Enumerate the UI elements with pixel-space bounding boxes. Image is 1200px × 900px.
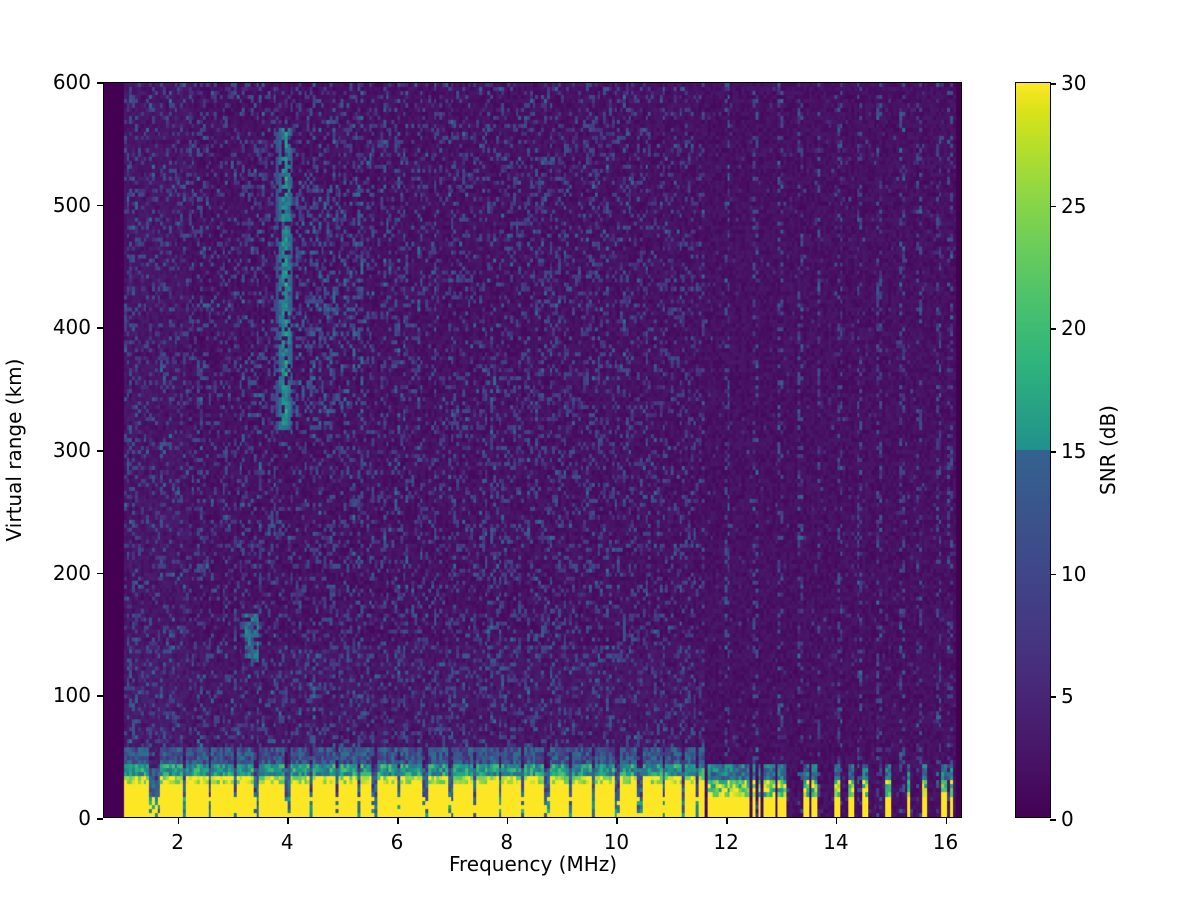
y-tick-label: 0 bbox=[78, 806, 91, 830]
colorbar: 051015202530 bbox=[1015, 82, 1051, 818]
y-tick-mark bbox=[97, 327, 103, 329]
x-tick-label: 14 bbox=[823, 830, 848, 854]
colorbar-tick-mark bbox=[1050, 819, 1056, 821]
colorbar-tick-mark bbox=[1050, 574, 1056, 576]
x-tick-mark bbox=[836, 818, 838, 824]
colorbar-tick-mark bbox=[1050, 451, 1056, 453]
colorbar-tick-label: 30 bbox=[1061, 71, 1086, 95]
x-tick-mark bbox=[178, 818, 180, 824]
colorbar-tick-label: 25 bbox=[1061, 194, 1086, 218]
y-tick-mark bbox=[97, 695, 103, 697]
ionogram-figure: IRF Kiruna Ionosonde KI167 2025-12-30 22… bbox=[0, 0, 1200, 900]
x-tick-mark bbox=[287, 818, 289, 824]
x-tick-mark bbox=[397, 818, 399, 824]
y-tick-label: 400 bbox=[53, 315, 91, 339]
y-tick-label: 200 bbox=[53, 561, 91, 585]
x-tick-label: 10 bbox=[604, 830, 629, 854]
y-tick-label: 600 bbox=[53, 70, 91, 94]
colorbar-tick-label: 5 bbox=[1061, 684, 1074, 708]
colorbar-tick-label: 0 bbox=[1061, 807, 1074, 831]
colorbar-label: SNR (dB) bbox=[1096, 405, 1120, 495]
x-tick-label: 6 bbox=[391, 830, 404, 854]
x-tick-mark bbox=[616, 818, 618, 824]
x-tick-label: 12 bbox=[713, 830, 738, 854]
colorbar-tick-mark bbox=[1050, 328, 1056, 330]
colorbar-tick-label: 15 bbox=[1061, 439, 1086, 463]
y-tick-mark bbox=[97, 205, 103, 207]
colorbar-tick-label: 10 bbox=[1061, 562, 1086, 586]
colorbar-tick-mark bbox=[1050, 206, 1056, 208]
y-axis-label: Virtual range (km) bbox=[2, 359, 26, 542]
x-tick-mark bbox=[946, 818, 948, 824]
y-tick-label: 500 bbox=[53, 193, 91, 217]
colorbar-tick-mark bbox=[1050, 83, 1056, 85]
colorbar-gradient bbox=[1016, 83, 1050, 817]
y-tick-mark bbox=[97, 818, 103, 820]
y-tick-label: 100 bbox=[53, 683, 91, 707]
colorbar-tick-mark bbox=[1050, 696, 1056, 698]
x-tick-mark bbox=[507, 818, 509, 824]
x-tick-label: 16 bbox=[933, 830, 958, 854]
x-tick-mark bbox=[726, 818, 728, 824]
x-tick-label: 2 bbox=[171, 830, 184, 854]
colorbar-tick-label: 20 bbox=[1061, 316, 1086, 340]
axis-tick-layer: 0100200300400500600246810121416 bbox=[103, 82, 962, 818]
y-tick-mark bbox=[97, 573, 103, 575]
x-tick-label: 4 bbox=[281, 830, 294, 854]
y-tick-label: 300 bbox=[53, 438, 91, 462]
y-tick-mark bbox=[97, 450, 103, 452]
y-tick-mark bbox=[97, 82, 103, 84]
x-axis-label: Frequency (MHz) bbox=[449, 852, 617, 876]
x-tick-label: 8 bbox=[500, 830, 513, 854]
